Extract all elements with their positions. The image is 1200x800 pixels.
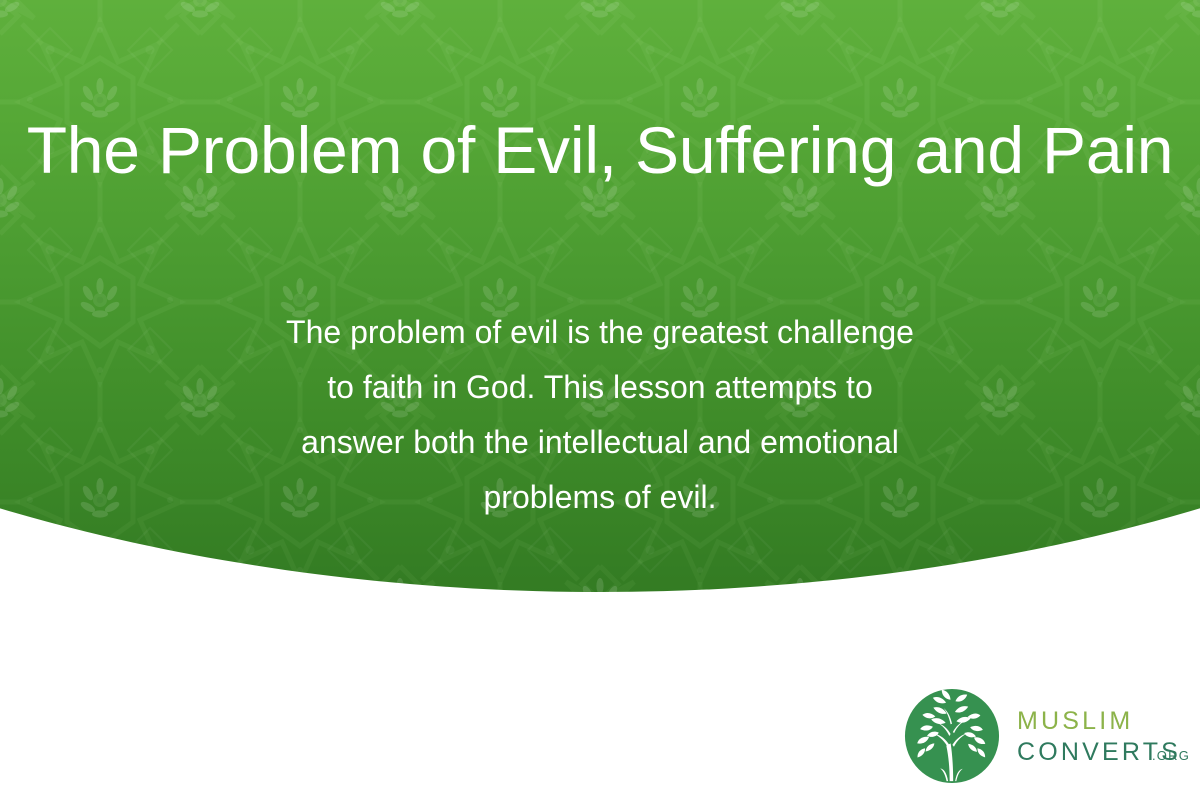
- body-line: problems of evil.: [0, 470, 1200, 525]
- body-line: to faith in God. This lesson attempts to: [0, 360, 1200, 415]
- muslimconverts-logo[interactable]: MUSLIM CONVERTS .ORG: [903, 686, 1193, 786]
- slide-body-text: The problem of evil is the greatest chal…: [0, 305, 1200, 525]
- body-line: The problem of evil is the greatest chal…: [0, 305, 1200, 360]
- logo-wordmark: MUSLIM CONVERTS .ORG: [1017, 704, 1189, 768]
- green-background-panel: The Problem of Evil, Suffering and Pain …: [0, 0, 1200, 800]
- slide-title: The Problem of Evil, Suffering and Pain: [0, 116, 1200, 186]
- logo-line1-text: MUSLIM: [1017, 707, 1133, 735]
- slide-canvas: The Problem of Evil, Suffering and Pain …: [0, 0, 1200, 800]
- tree-in-circle-icon: [903, 687, 1001, 785]
- body-line: answer both the intellectual and emotion…: [0, 415, 1200, 470]
- logo-tld-text: .ORG: [1152, 748, 1189, 763]
